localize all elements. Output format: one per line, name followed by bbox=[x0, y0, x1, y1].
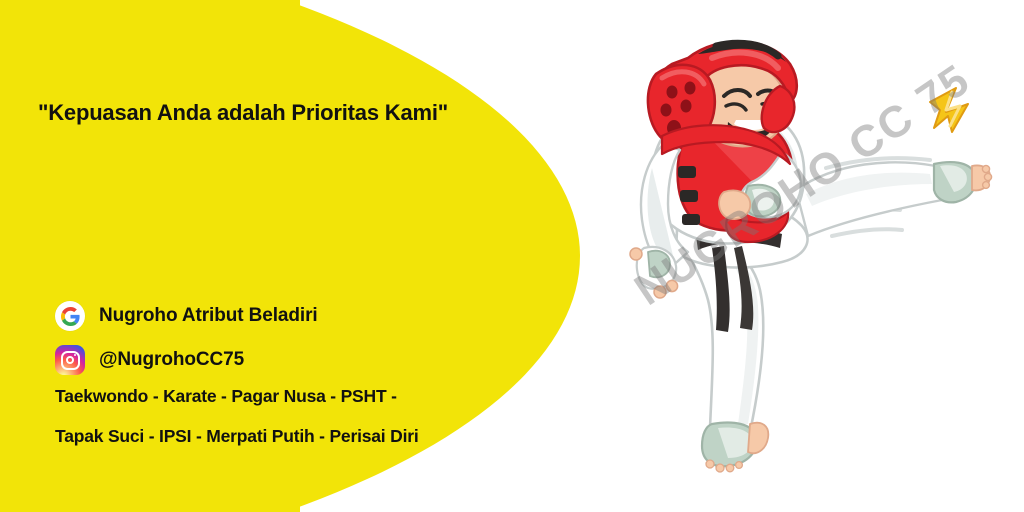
instagram-handle-label: @NugrohoCC75 bbox=[99, 349, 244, 371]
standing-leg bbox=[688, 240, 768, 472]
page-title: "Kepuasan Anda adalah Prioritas Kami" bbox=[38, 100, 508, 126]
instagram-icon bbox=[55, 345, 85, 375]
promotional-banner: "Kepuasan Anda adalah Prioritas Kami" Nu… bbox=[0, 0, 1024, 512]
google-account-label: Nugroho Atribut Beladiri bbox=[99, 305, 318, 327]
google-icon bbox=[55, 301, 85, 331]
kicking-leg bbox=[796, 162, 992, 236]
impact-spark-icon bbox=[930, 88, 968, 132]
discipline-list-line-2: Tapak Suci - IPSI - Merpati Putih - Peri… bbox=[55, 426, 419, 447]
discipline-list-line-1: Taekwondo - Karate - Pagar Nusa - PSHT - bbox=[55, 386, 397, 407]
contact-row-google[interactable]: Nugroho Atribut Beladiri bbox=[55, 296, 525, 336]
taekwondo-athlete-illustration bbox=[600, 40, 1024, 512]
contact-block: Nugroho Atribut Beladiri @NugrohoCC75 bbox=[55, 296, 525, 380]
contact-row-instagram[interactable]: @NugrohoCC75 bbox=[55, 340, 525, 380]
